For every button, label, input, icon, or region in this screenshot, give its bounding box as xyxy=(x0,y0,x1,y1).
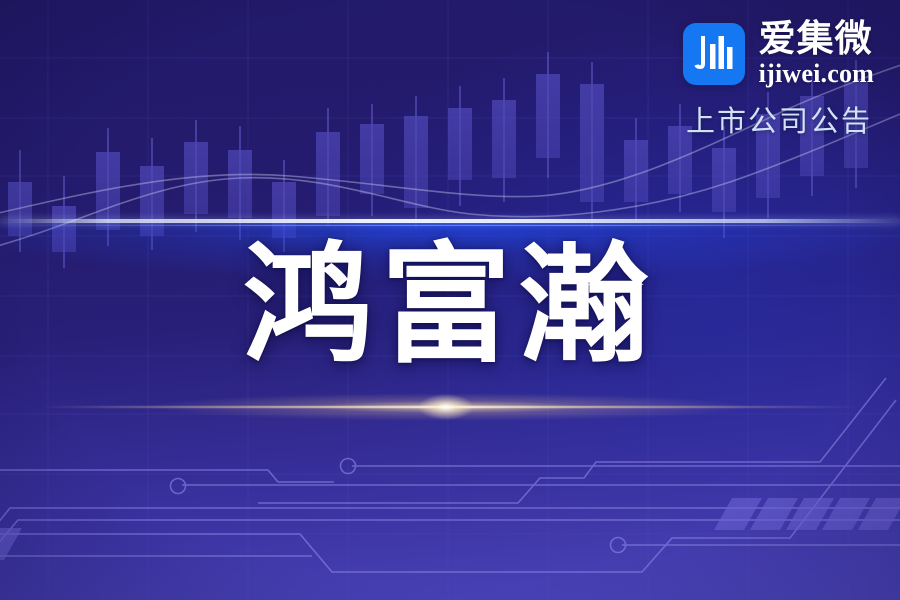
banner-canvas: 爱集微 ijiwei.com 上市公司公告 鸿富瀚 xyxy=(0,0,900,600)
brand-name-en: ijiwei.com xyxy=(759,59,874,89)
brand-logo-row: 爱集微 ijiwei.com xyxy=(683,20,874,89)
golden-flare-core xyxy=(418,390,474,424)
bar-chart-logo-icon xyxy=(683,23,745,85)
brand-block: 爱集微 ijiwei.com 上市公司公告 xyxy=(683,20,874,140)
brand-subtitle: 上市公司公告 xyxy=(683,98,872,140)
brand-text-group: 爱集微 ijiwei.com xyxy=(759,20,874,89)
page-title: 鸿富瀚 xyxy=(0,240,900,370)
brand-name-cn: 爱集微 xyxy=(759,20,873,57)
